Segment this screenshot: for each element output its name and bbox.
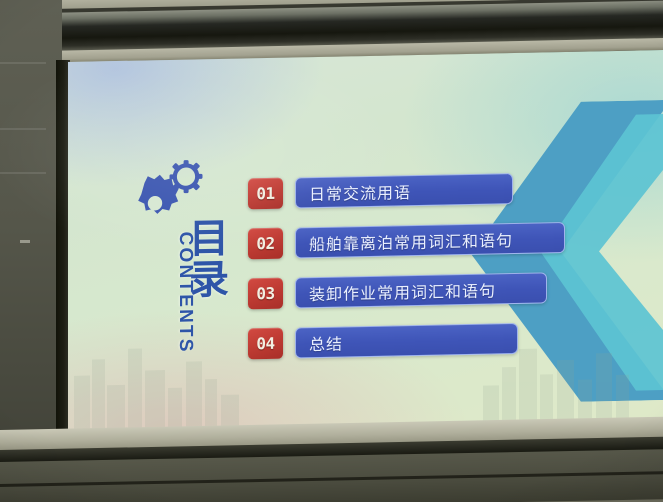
menu-item-02[interactable]: 02 船舶靠离泊常用词汇和语句	[248, 221, 628, 260]
contents-title: 目 录 CONTENTS	[142, 218, 252, 410]
wall-left	[0, 0, 62, 502]
wall-seam	[0, 172, 46, 174]
gear-icon	[138, 174, 179, 214]
menu-item-03[interactable]: 03 装卸作业常用词汇和语句	[248, 271, 628, 310]
menu-item-01[interactable]: 01 日常交流用语	[248, 171, 628, 210]
wall-seam	[0, 62, 46, 64]
menu-number-badge: 02	[248, 228, 283, 260]
menu-number-badge: 01	[248, 178, 283, 210]
contents-menu: 01 日常交流用语 02 船舶靠离泊常用词汇和语句 03 装卸作业常用词汇和语句…	[248, 171, 628, 379]
menu-item-04[interactable]: 04 总结	[248, 321, 628, 360]
menu-item-bar[interactable]: 装卸作业常用词汇和语句	[295, 272, 547, 308]
menu-item-bar[interactable]: 总结	[295, 323, 518, 358]
menu-item-bar[interactable]: 船舶靠离泊常用词汇和语句	[295, 222, 565, 258]
gear-outline-teeth-icon	[170, 160, 203, 194]
gear-outline-icon	[175, 165, 197, 188]
wall-mark	[20, 240, 30, 243]
projector-photo: 目 录 CONTENTS 01 日常交流用语 02 船舶靠离泊常用词汇和语句 0…	[0, 0, 663, 502]
presentation-slide: 目 录 CONTENTS 01 日常交流用语 02 船舶靠离泊常用词汇和语句 0…	[68, 50, 663, 438]
wall-seam	[0, 128, 46, 130]
title-english: CONTENTS	[174, 217, 196, 367]
menu-item-bar[interactable]: 日常交流用语	[295, 173, 513, 208]
menu-number-badge: 03	[248, 278, 283, 310]
menu-number-badge: 04	[248, 328, 283, 360]
